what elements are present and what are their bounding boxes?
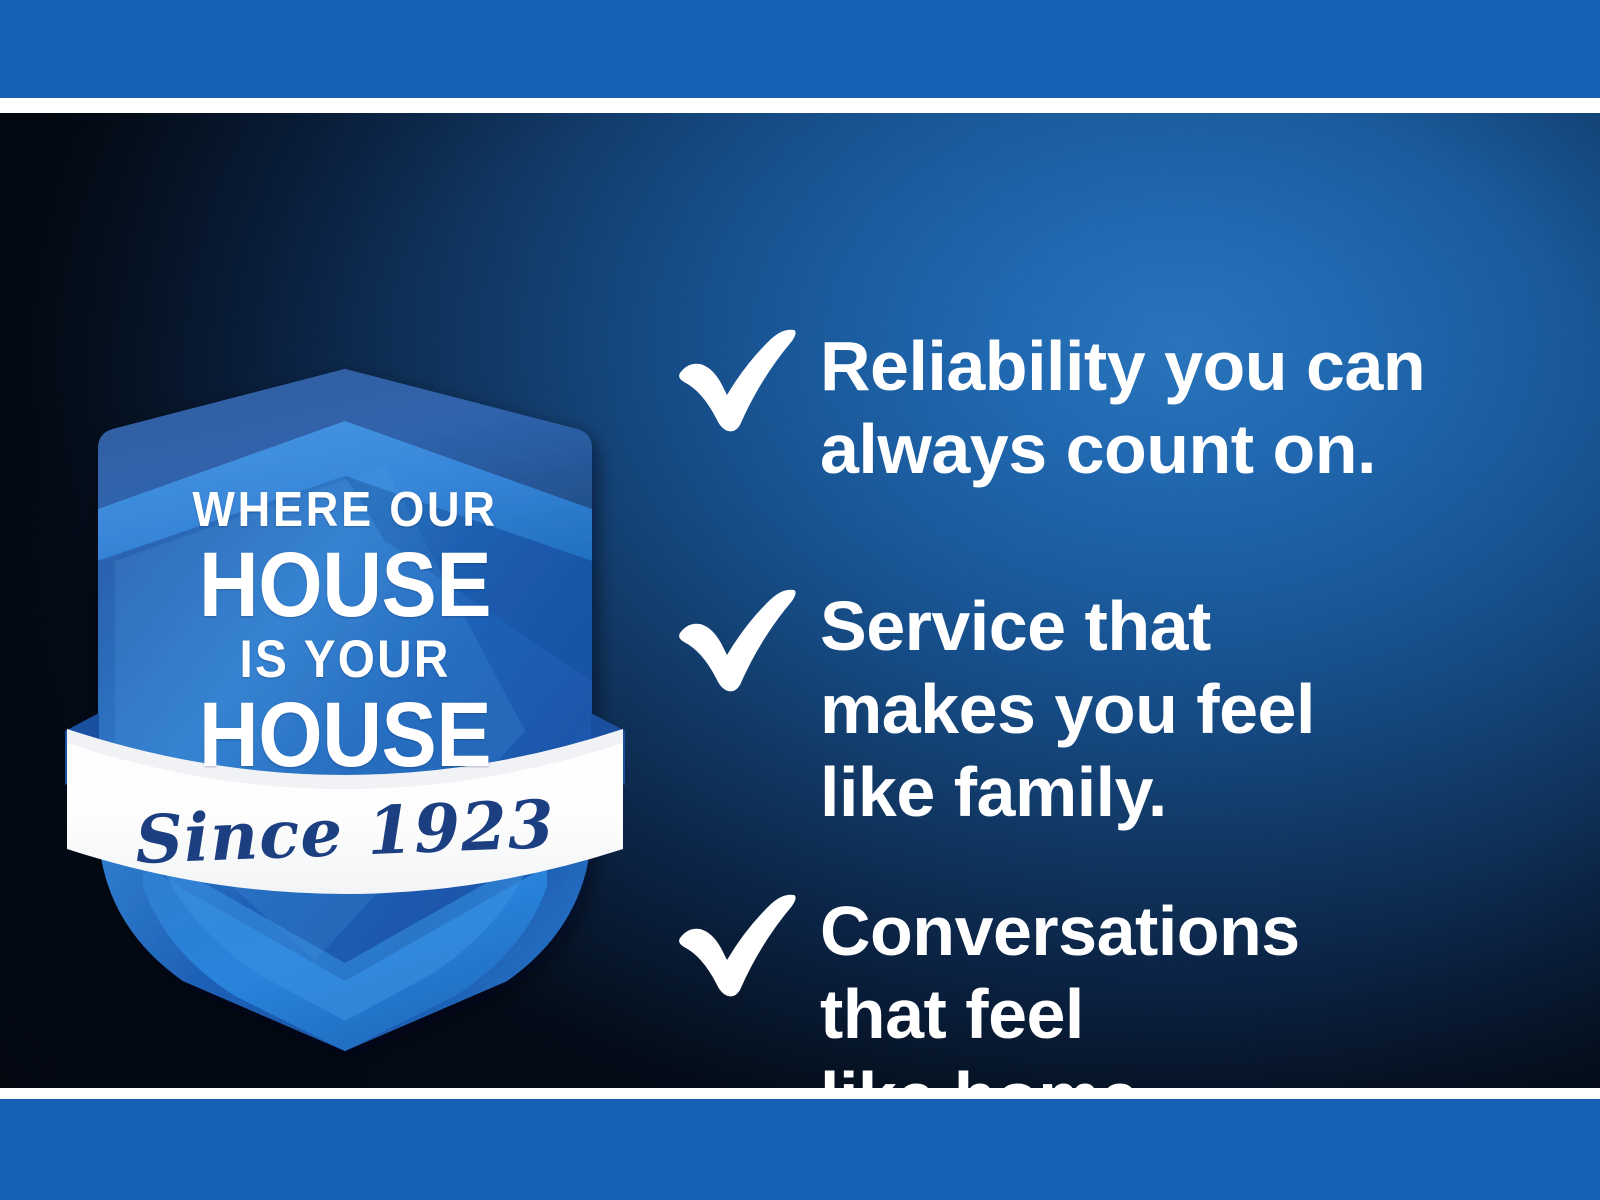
bottom-brand-bar — [0, 1099, 1600, 1200]
main-panel: WHERE OUR HOUSE IS YOUR HOUSE Since 1923… — [0, 113, 1600, 1088]
promo-graphic: WHERE OUR HOUSE IS YOUR HOUSE Since 1923… — [0, 0, 1600, 1200]
shield-graphic — [55, 261, 635, 1071]
top-brand-bar — [0, 0, 1600, 98]
benefit-text-3: Conversations that feel like home. — [820, 890, 1300, 1088]
benefit-item-3: Conversations that feel like home. — [670, 886, 1300, 1088]
benefit-item-1: Reliability you can always count on. — [670, 321, 1425, 491]
benefit-text-1: Reliability you can always count on. — [820, 325, 1425, 491]
check-icon — [670, 321, 802, 433]
benefits-list: Reliability you can always count on. Ser… — [660, 226, 1540, 1088]
shield-badge: WHERE OUR HOUSE IS YOUR HOUSE Since 1923 — [55, 261, 635, 1071]
benefit-text-2: Service that makes you feel like family. — [820, 585, 1315, 834]
check-icon — [670, 886, 802, 998]
check-icon — [670, 581, 802, 693]
benefit-item-2: Service that makes you feel like family. — [670, 581, 1315, 834]
